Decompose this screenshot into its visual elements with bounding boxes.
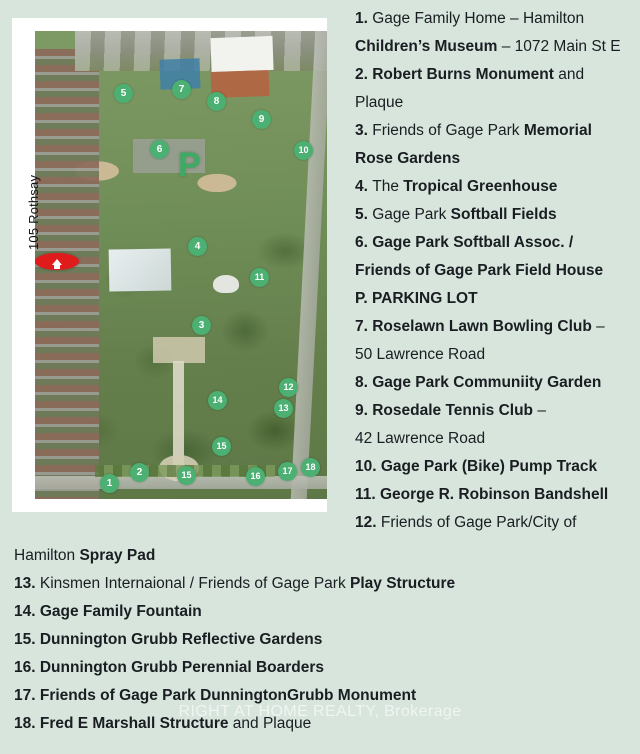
legend-text-segment: 1. bbox=[355, 10, 372, 27]
legend-line: 9. Rosedale Tennis Club – bbox=[355, 397, 640, 425]
fountain-plaza bbox=[153, 337, 205, 363]
aerial-map-image[interactable]: 57896104113121413151215161718 P bbox=[35, 31, 327, 499]
legend-text-segment: 13. bbox=[14, 575, 40, 592]
legend-line: 6. Gage Park Softball Assoc. / bbox=[355, 229, 640, 257]
legend-text-segment: 16. Dunnington Grubb Perennial Boarders bbox=[14, 659, 324, 676]
map-marker-12[interactable]: 12 bbox=[279, 378, 298, 397]
map-marker-1[interactable]: 1 bbox=[100, 474, 119, 493]
map-marker-8[interactable]: 8 bbox=[207, 92, 226, 111]
legend-line: 14. Gage Family Fountain bbox=[14, 598, 640, 626]
residential-block bbox=[35, 49, 99, 499]
rail-corridor bbox=[75, 31, 327, 71]
legend-line: 1. Gage Family Home – Hamilton bbox=[355, 5, 640, 33]
legend-line: 10. Gage Park (Bike) Pump Track bbox=[355, 453, 640, 481]
legend-text-segment: 6. Gage Park Softball Assoc. / bbox=[355, 234, 573, 251]
map-marker-label: 9 bbox=[259, 115, 265, 125]
legend-line: 4. The Tropical Greenhouse bbox=[355, 173, 640, 201]
map-marker-2[interactable]: 2 bbox=[130, 463, 149, 482]
legend-line: 17. Friends of Gage Park DunningtonGrubb… bbox=[14, 682, 640, 710]
legend-line: 18. Fred E Marshall Structure and Plaque bbox=[14, 710, 640, 738]
legend-right-column: 1. Gage Family Home – HamiltonChildren’s… bbox=[355, 5, 640, 537]
map-marker-label: 8 bbox=[214, 97, 220, 107]
legend-line: Children’s Museum – 1072 Main St E bbox=[355, 33, 640, 61]
legend-line: 16. Dunnington Grubb Perennial Boarders bbox=[14, 654, 640, 682]
subject-property-pin[interactable] bbox=[35, 253, 79, 270]
legend-text-segment: 7. Roselawn Lawn Bowling Club bbox=[355, 318, 592, 335]
legend-line: Friends of Gage Park Field House bbox=[355, 257, 640, 285]
legend-line: Hamilton Spray Pad bbox=[14, 542, 640, 570]
map-marker-label: 11 bbox=[255, 273, 265, 282]
map-marker-11[interactable]: 11 bbox=[250, 268, 269, 287]
subject-address-label: 105 Rothsay bbox=[26, 175, 41, 250]
legend-text-segment: Play Structure bbox=[350, 575, 455, 592]
legend-text-segment: 5. bbox=[355, 206, 372, 223]
map-marker-6[interactable]: 6 bbox=[150, 140, 169, 159]
map-figure: 57896104113121413151215161718 P 105 Roth… bbox=[12, 18, 327, 512]
legend-text-segment: 9. Rosedale Tennis Club bbox=[355, 402, 533, 419]
map-marker-16[interactable]: 16 bbox=[246, 467, 265, 486]
legend-text-segment: – bbox=[533, 402, 546, 419]
legend-text-segment: Softball Fields bbox=[451, 206, 557, 223]
map-marker-label: 5 bbox=[121, 89, 127, 99]
map-marker-label: 16 bbox=[250, 472, 260, 481]
legend-text-segment: and bbox=[554, 66, 584, 83]
legend-line: Rose Gardens bbox=[355, 145, 640, 173]
legend-line: 13. Kinsmen Internaional / Friends of Ga… bbox=[14, 570, 640, 598]
map-marker-13[interactable]: 13 bbox=[274, 399, 293, 418]
tropical-greenhouse-building bbox=[109, 248, 172, 291]
map-marker-label: 15 bbox=[181, 471, 191, 480]
legend-text-segment: 11. George R. Robinson Bandshell bbox=[355, 486, 608, 503]
map-marker-label: 6 bbox=[157, 145, 163, 155]
legend-text-segment: 14. Gage Family Fountain bbox=[14, 603, 202, 620]
legend-text-segment: Plaque bbox=[355, 94, 403, 111]
legend-text-segment: – bbox=[592, 318, 605, 335]
legend-line: 3. Friends of Gage Park Memorial bbox=[355, 117, 640, 145]
legend-bottom-rows: Hamilton Spray Pad13. Kinsmen Internaion… bbox=[14, 542, 640, 738]
legend-line: 12. Friends of Gage Park/City of bbox=[355, 509, 640, 537]
legend-text-segment: Tropical Greenhouse bbox=[403, 178, 557, 195]
legend-text-segment: 3. bbox=[355, 122, 372, 139]
lawn-bowling-green bbox=[210, 36, 273, 72]
legend-text-segment: Hamilton bbox=[14, 547, 79, 564]
map-marker-5[interactable]: 5 bbox=[114, 84, 133, 103]
legend-text-segment: 4. bbox=[355, 178, 372, 195]
legend-line: 8. Gage Park Communiity Garden bbox=[355, 369, 640, 397]
map-marker-3[interactable]: 3 bbox=[192, 316, 211, 335]
legend-line: 5. Gage Park Softball Fields bbox=[355, 201, 640, 229]
legend-text-segment: Friends of Gage Park/City of bbox=[381, 514, 577, 531]
map-marker-label: 7 bbox=[179, 85, 185, 95]
map-marker-label: 15 bbox=[216, 442, 226, 451]
map-marker-15[interactable]: 15 bbox=[177, 466, 196, 485]
legend-text-segment: 50 Lawrence Road bbox=[355, 346, 485, 363]
map-marker-label: 14 bbox=[212, 396, 222, 405]
legend-line: 15. Dunnington Grubb Reflective Gardens bbox=[14, 626, 640, 654]
map-marker-4[interactable]: 4 bbox=[188, 237, 207, 256]
legend-line: 42 Lawrence Road bbox=[355, 425, 640, 453]
house-icon bbox=[52, 259, 62, 265]
map-marker-label: 13 bbox=[278, 404, 288, 413]
map-marker-15[interactable]: 15 bbox=[212, 437, 231, 456]
legend-text-segment: 12. bbox=[355, 514, 381, 531]
legend-line: 7. Roselawn Lawn Bowling Club – bbox=[355, 313, 640, 341]
parking-lot-marker[interactable]: P bbox=[178, 148, 201, 182]
map-marker-label: 2 bbox=[137, 468, 143, 478]
legend-text-segment: Gage Family Home – Hamilton bbox=[372, 10, 584, 27]
legend-line: Plaque bbox=[355, 89, 640, 117]
legend-text-segment: 8. Gage Park Communiity Garden bbox=[355, 374, 601, 391]
legend-text-segment: 18. Fred E Marshall Structure bbox=[14, 715, 229, 732]
map-marker-7[interactable]: 7 bbox=[172, 80, 191, 99]
legend-text-segment: 10. Gage Park (Bike) Pump Track bbox=[355, 458, 597, 475]
legend-text-segment: and Plaque bbox=[229, 715, 312, 732]
map-marker-label: 18 bbox=[305, 463, 315, 472]
legend-text-segment: Kinsmen Internaional / Friends of Gage P… bbox=[40, 575, 350, 592]
map-marker-label: 12 bbox=[283, 383, 293, 392]
map-marker-label: 4 bbox=[195, 242, 201, 252]
legend-text-segment: 42 Lawrence Road bbox=[355, 430, 485, 447]
legend-text-segment: 15. Dunnington Grubb Reflective Gardens bbox=[14, 631, 322, 648]
legend-text-segment: 2. Robert Burns Monument bbox=[355, 66, 554, 83]
legend-text-segment: Spray Pad bbox=[79, 547, 155, 564]
legend-line: 50 Lawrence Road bbox=[355, 341, 640, 369]
map-marker-14[interactable]: 14 bbox=[208, 391, 227, 410]
legend-line: P. PARKING LOT bbox=[355, 285, 640, 313]
legend-text-segment: Friends of Gage Park bbox=[372, 122, 524, 139]
map-marker-label: 3 bbox=[199, 321, 205, 331]
map-marker-10[interactable]: 10 bbox=[294, 141, 313, 160]
legend-line: 2. Robert Burns Monument and bbox=[355, 61, 640, 89]
legend-text-segment: Memorial bbox=[524, 122, 592, 139]
bandshell-structure bbox=[213, 275, 239, 293]
legend-text-segment: Gage Park bbox=[372, 206, 450, 223]
legend-text-segment: Friends of Gage Park Field House bbox=[355, 262, 603, 279]
legend-text-segment: P. PARKING LOT bbox=[355, 290, 478, 307]
legend-text-segment: – 1072 Main St E bbox=[497, 38, 620, 55]
legend-text-segment: 17. Friends of Gage Park DunningtonGrubb… bbox=[14, 687, 416, 704]
map-marker-18[interactable]: 18 bbox=[301, 458, 320, 477]
map-marker-label: 17 bbox=[282, 467, 292, 476]
legend-text-segment: Rose Gardens bbox=[355, 150, 460, 167]
map-marker-label: 10 bbox=[298, 146, 308, 155]
map-marker-9[interactable]: 9 bbox=[252, 110, 271, 129]
legend-text-segment: Children’s Museum bbox=[355, 38, 497, 55]
legend-line: 11. George R. Robinson Bandshell bbox=[355, 481, 640, 509]
map-marker-17[interactable]: 17 bbox=[278, 462, 297, 481]
legend-text-segment: The bbox=[372, 178, 403, 195]
map-marker-label: 1 bbox=[107, 479, 113, 489]
